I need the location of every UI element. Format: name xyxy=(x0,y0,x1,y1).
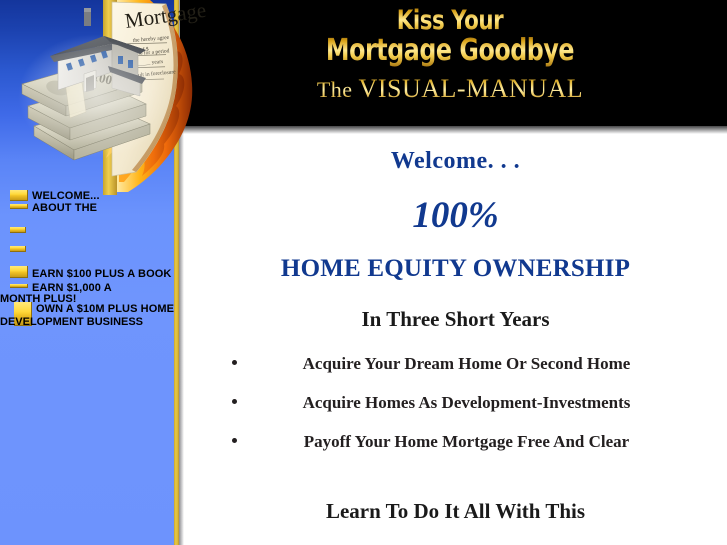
sidebar-item-label: ABOUT THE xyxy=(32,202,97,214)
list-item: Payoff Your Home Mortgage Free And Clear xyxy=(184,432,727,471)
bullet-dot-icon xyxy=(232,360,237,365)
title-line-2: Mortgage Goodbye xyxy=(230,35,670,67)
benefits-list: Acquire Your Dream Home Or Second Home A… xyxy=(184,354,727,471)
sidebar-item-label: EARN $100 PLUS A BOOK xyxy=(32,268,171,280)
timeframe-heading: In Three Short Years xyxy=(184,307,727,332)
title-banner-shadow xyxy=(180,126,727,134)
welcome-heading: Welcome. . . xyxy=(184,148,727,175)
bullet-square-icon xyxy=(10,246,26,252)
bullet-dot-icon xyxy=(232,399,237,404)
sidebar-item-label-line2: DEVELOPMENT BUSINESS xyxy=(0,316,143,328)
page-root: WELCOME... ABOUT THE EARN $100 PLUS A BO… xyxy=(0,0,727,545)
list-item: Acquire Homes As Development-Investments xyxy=(184,393,727,432)
bullet-square-icon xyxy=(10,204,28,209)
title-subtitle-prefix: The xyxy=(317,77,359,102)
title-subtitle-main: VISUAL-MANUAL xyxy=(359,74,584,103)
learn-heading: Learn To Do It All With This xyxy=(184,499,727,524)
main-content: Welcome. . . 100% HOME EQUITY OWNERSHIP … xyxy=(184,134,727,545)
bullet-square-icon xyxy=(10,266,28,278)
list-item-label: Acquire Homes As Development-Investments xyxy=(303,393,631,413)
list-item-label: Acquire Your Dream Home Or Second Home xyxy=(303,354,631,374)
percent-heading: 100% xyxy=(184,194,727,237)
sidebar-navigation: WELCOME... ABOUT THE EARN $100 PLUS A BO… xyxy=(0,190,180,340)
bullet-dot-icon xyxy=(232,438,237,443)
home-equity-ownership-heading: HOME EQUITY OWNERSHIP xyxy=(184,255,727,283)
bullet-square-icon xyxy=(10,227,26,233)
bullet-square-icon xyxy=(10,284,28,288)
site-title: Kiss Your Mortgage Goodbye The VISUAL-MA… xyxy=(200,6,700,104)
sidebar-item-label: OWN A $10M PLUS HOME xyxy=(36,303,174,315)
title-subtitle: The VISUAL-MANUAL xyxy=(200,74,700,104)
title-line-1: Kiss Your xyxy=(230,6,670,35)
list-item: Acquire Your Dream Home Or Second Home xyxy=(184,354,727,393)
list-item-label: Payoff Your Home Mortgage Free And Clear xyxy=(304,432,629,452)
sidebar-item-label: WELCOME... xyxy=(32,190,100,202)
bullet-square-icon xyxy=(10,190,28,201)
